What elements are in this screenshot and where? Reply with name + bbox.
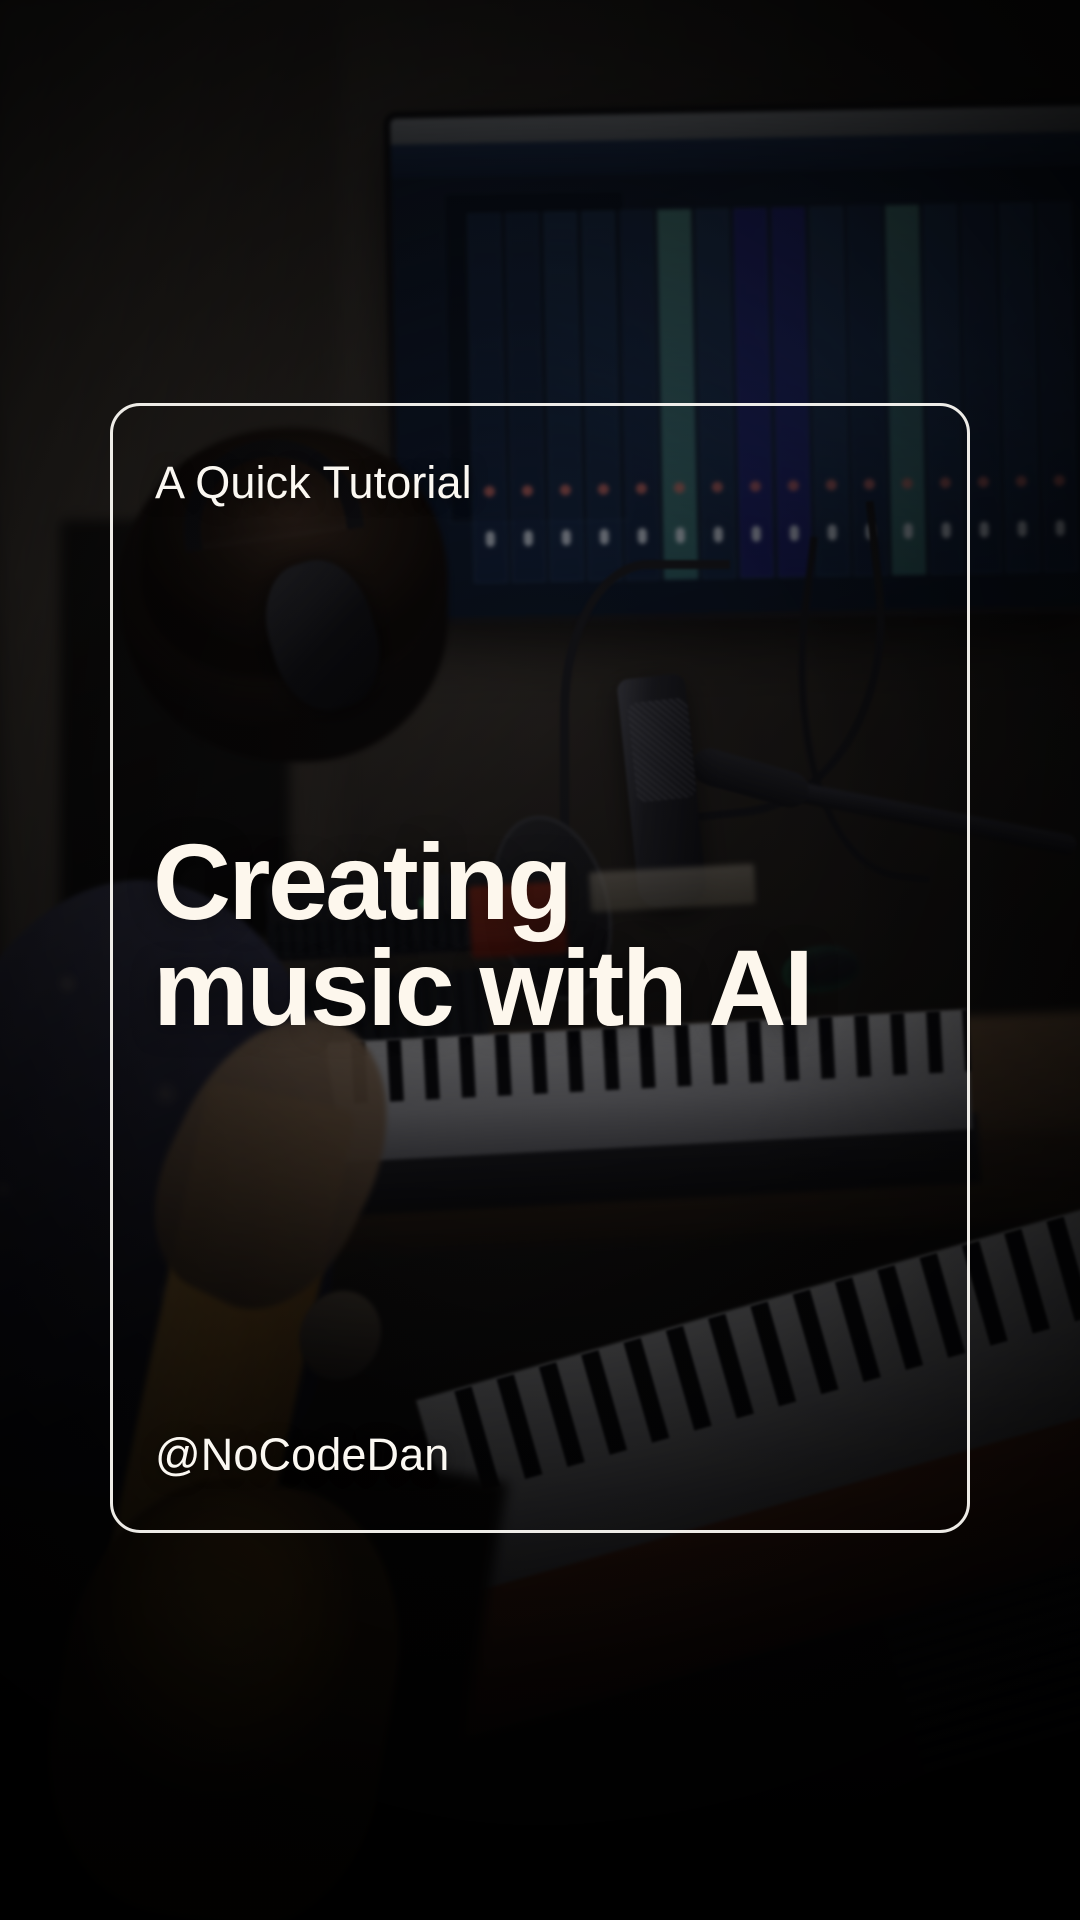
page-title: Creating music with AI bbox=[145, 829, 925, 1041]
social-poster: A Quick Tutorial Creating music with AI … bbox=[0, 0, 1080, 1920]
author-handle[interactable]: @NoCodeDan bbox=[145, 1429, 925, 1481]
content-frame: A Quick Tutorial Creating music with AI … bbox=[110, 403, 970, 1533]
page-title-line-2: music with AI bbox=[153, 935, 925, 1041]
page-title-line-1: Creating bbox=[153, 829, 925, 935]
eyebrow-label: A Quick Tutorial bbox=[145, 458, 925, 508]
